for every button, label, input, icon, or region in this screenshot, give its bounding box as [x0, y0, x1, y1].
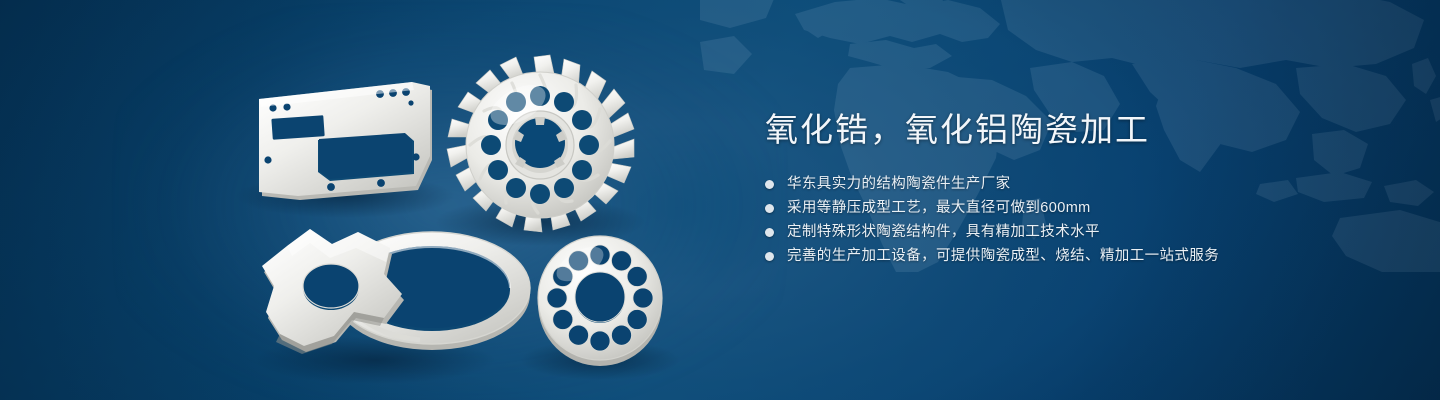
list-item: 华东具实力的结构陶瓷件生产厂家 — [765, 172, 1325, 196]
feature-text: 采用等静压成型工艺，最大直径可做到600mm — [787, 196, 1091, 220]
list-item: 定制特殊形状陶瓷结构件，具有精加工技术水平 — [765, 220, 1325, 244]
banner-copy: 氧化锆，氧化铝陶瓷加工 华东具实力的结构陶瓷件生产厂家 采用等静压成型工艺，最大… — [765, 110, 1325, 268]
bullet-dot-icon — [765, 252, 774, 261]
bullet-dot-icon — [765, 180, 774, 189]
ceramic-valve-plate — [538, 236, 662, 366]
ceramic-plate — [259, 82, 432, 200]
feature-text: 完善的生产加工设备，可提供陶瓷成型、烧结、精加工一站式服务 — [787, 244, 1219, 268]
list-item: 采用等静压成型工艺，最大直径可做到600mm — [765, 196, 1325, 220]
bullet-dot-icon — [765, 204, 774, 213]
bullet-dot-icon — [765, 228, 774, 237]
ceramic-products-image — [0, 0, 720, 400]
list-item: 完善的生产加工设备，可提供陶瓷成型、烧结、精加工一站式服务 — [765, 244, 1325, 268]
feature-list: 华东具实力的结构陶瓷件生产厂家 采用等静压成型工艺，最大直径可做到600mm 定… — [765, 172, 1325, 268]
feature-text: 华东具实力的结构陶瓷件生产厂家 — [787, 172, 1011, 196]
hero-banner: 氧化锆，氧化铝陶瓷加工 华东具实力的结构陶瓷件生产厂家 采用等静压成型工艺，最大… — [0, 0, 1440, 400]
banner-headline: 氧化锆，氧化铝陶瓷加工 — [765, 110, 1325, 150]
feature-text: 定制特殊形状陶瓷结构件，具有精加工技术水平 — [787, 220, 1100, 244]
